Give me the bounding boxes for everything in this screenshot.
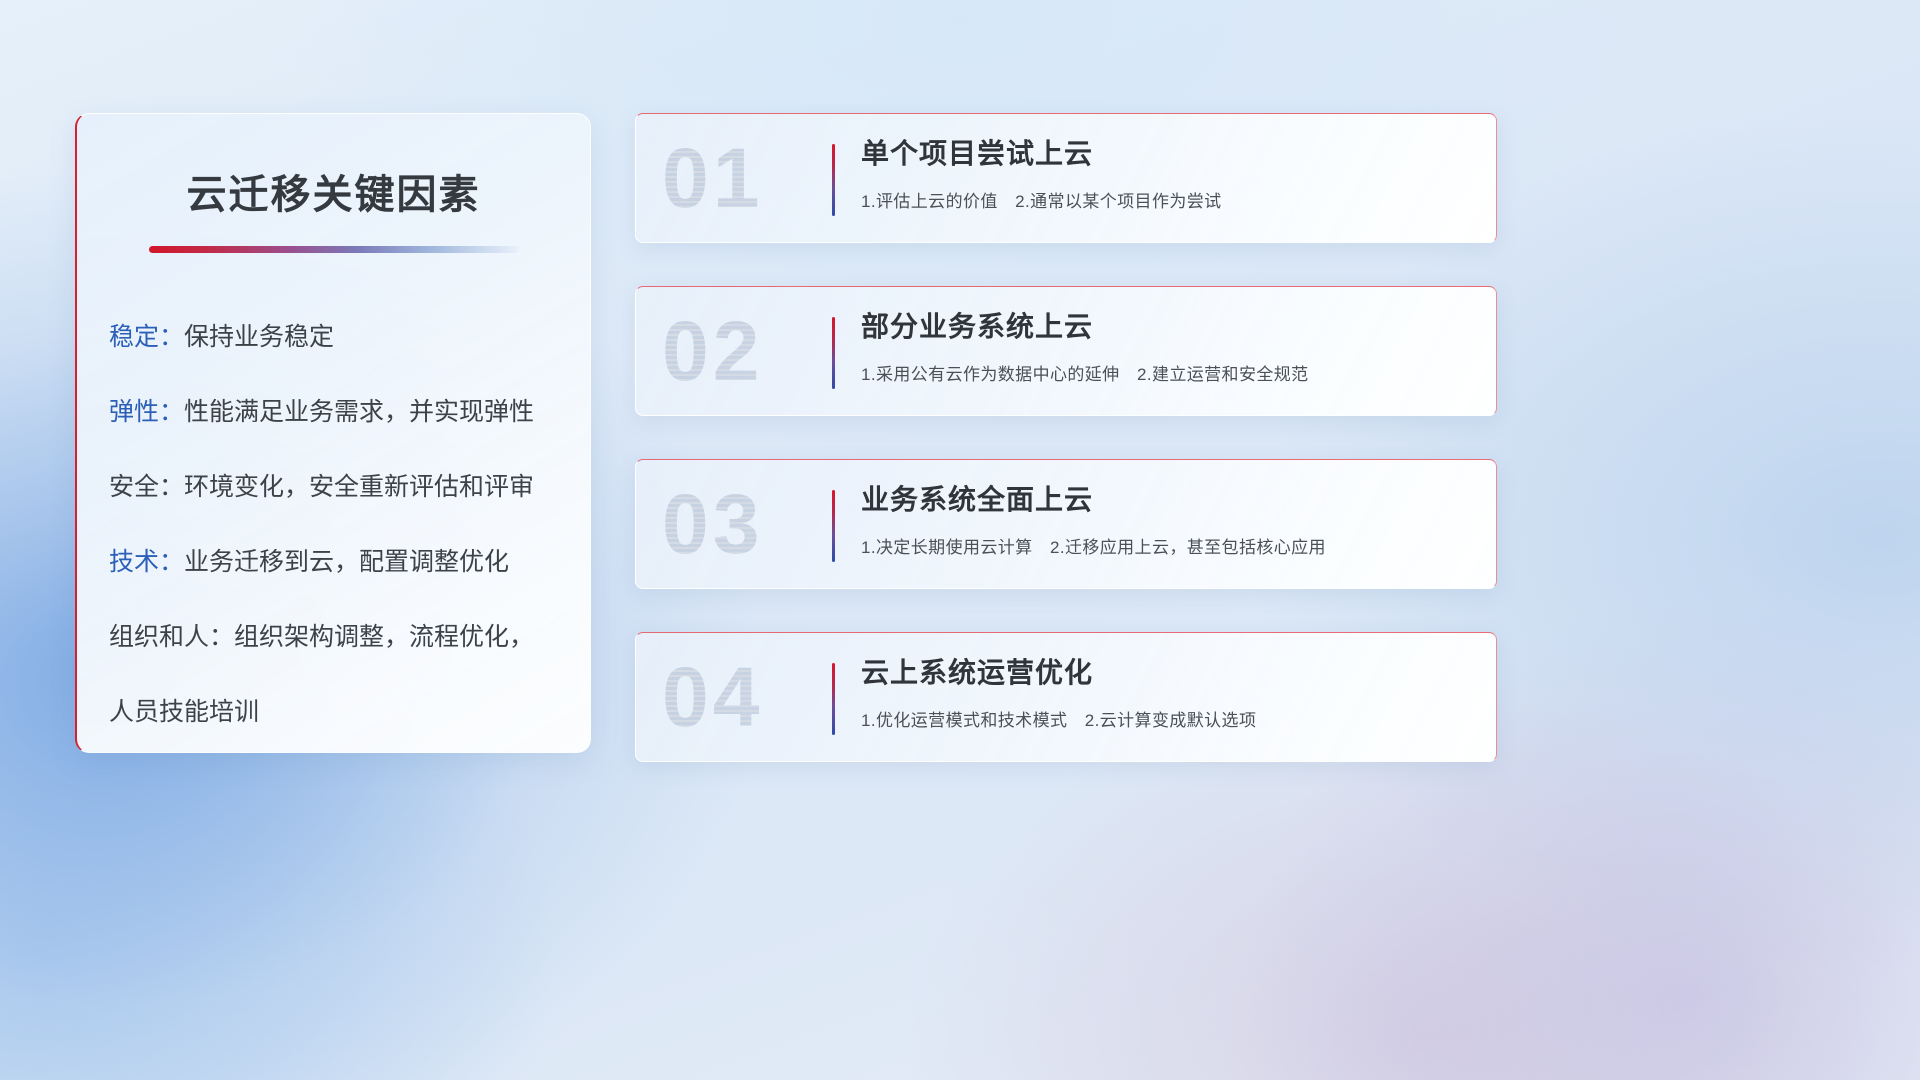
card-body: 单个项目尝试上云 1.评估上云的价值 2.通常以某个项目作为尝试: [861, 136, 1472, 212]
stage-number-watermark: 04: [662, 655, 763, 739]
factor-list: 稳定：保持业务稳定 弹性：性能满足业务需求，并实现弹性 安全：环境变化，安全重新…: [109, 325, 590, 725]
card-title: 业务系统全面上云: [861, 482, 1472, 517]
factor-text: 环境变化，安全重新评估和评审: [184, 473, 534, 501]
stage-number-watermark: 01: [662, 136, 763, 220]
list-item: 安全：环境变化，安全重新评估和评审: [109, 475, 590, 500]
factor-label: 安全：: [109, 473, 184, 501]
card-accent-divider: [832, 317, 835, 389]
card-subtitle: 1.采用公有云作为数据中心的延伸 2.建立运营和安全规范: [861, 360, 1472, 385]
factor-text: 组织架构调整，流程优化，: [234, 623, 534, 651]
stage-card[interactable]: 03 业务系统全面上云 1.决定长期使用云计算 2.迁移应用上云，甚至包括核心应…: [635, 459, 1497, 589]
factor-text: 保持业务稳定: [184, 323, 334, 351]
factor-label: 弹性：: [109, 398, 184, 426]
card-body: 部分业务系统上云 1.采用公有云作为数据中心的延伸 2.建立运营和安全规范: [861, 309, 1472, 385]
list-item: 组织和人：组织架构调整，流程优化，: [109, 625, 590, 650]
stage-card[interactable]: 04 云上系统运营优化 1.优化运营模式和技术模式 2.云计算变成默认选项: [635, 632, 1497, 762]
card-accent-divider: [832, 490, 835, 562]
card-title: 部分业务系统上云: [861, 309, 1472, 344]
factor-text: 性能满足业务需求，并实现弹性: [184, 398, 534, 426]
slide-canvas: 云迁移关键因素 稳定：保持业务稳定 弹性：性能满足业务需求，并实现弹性 安全：环…: [0, 0, 1920, 1080]
panel-title: 云迁移关键因素: [77, 162, 590, 220]
factor-label: 稳定：: [109, 323, 184, 351]
stage-number-watermark: 03: [662, 482, 763, 566]
factor-label: 组织和人：: [109, 623, 234, 651]
card-accent-divider: [832, 144, 835, 216]
stage-card[interactable]: 01 单个项目尝试上云 1.评估上云的价值 2.通常以某个项目作为尝试: [635, 113, 1497, 243]
card-title: 云上系统运营优化: [861, 655, 1472, 690]
key-factors-panel: 云迁移关键因素 稳定：保持业务稳定 弹性：性能满足业务需求，并实现弹性 安全：环…: [75, 113, 591, 753]
card-body: 云上系统运营优化 1.优化运营模式和技术模式 2.云计算变成默认选项: [861, 655, 1472, 731]
card-accent-divider: [832, 663, 835, 735]
factor-label: 技术：: [109, 548, 184, 576]
title-underline-rule: [149, 246, 519, 253]
card-subtitle: 1.优化运营模式和技术模式 2.云计算变成默认选项: [861, 706, 1472, 731]
list-item: 弹性：性能满足业务需求，并实现弹性: [109, 400, 590, 425]
card-body: 业务系统全面上云 1.决定长期使用云计算 2.迁移应用上云，甚至包括核心应用: [861, 482, 1472, 558]
stage-number-watermark: 02: [662, 309, 763, 393]
list-item: 人员技能培训: [109, 700, 590, 725]
stage-card-list: 01 单个项目尝试上云 1.评估上云的价值 2.通常以某个项目作为尝试 02 部…: [635, 113, 1497, 762]
factor-text: 人员技能培训: [109, 698, 259, 726]
card-subtitle: 1.评估上云的价值 2.通常以某个项目作为尝试: [861, 187, 1472, 212]
card-subtitle: 1.决定长期使用云计算 2.迁移应用上云，甚至包括核心应用: [861, 533, 1472, 558]
list-item: 稳定：保持业务稳定: [109, 325, 590, 350]
list-item: 技术：业务迁移到云，配置调整优化: [109, 550, 590, 575]
factor-text: 业务迁移到云，配置调整优化: [184, 548, 509, 576]
card-title: 单个项目尝试上云: [861, 136, 1472, 171]
stage-card[interactable]: 02 部分业务系统上云 1.采用公有云作为数据中心的延伸 2.建立运营和安全规范: [635, 286, 1497, 416]
